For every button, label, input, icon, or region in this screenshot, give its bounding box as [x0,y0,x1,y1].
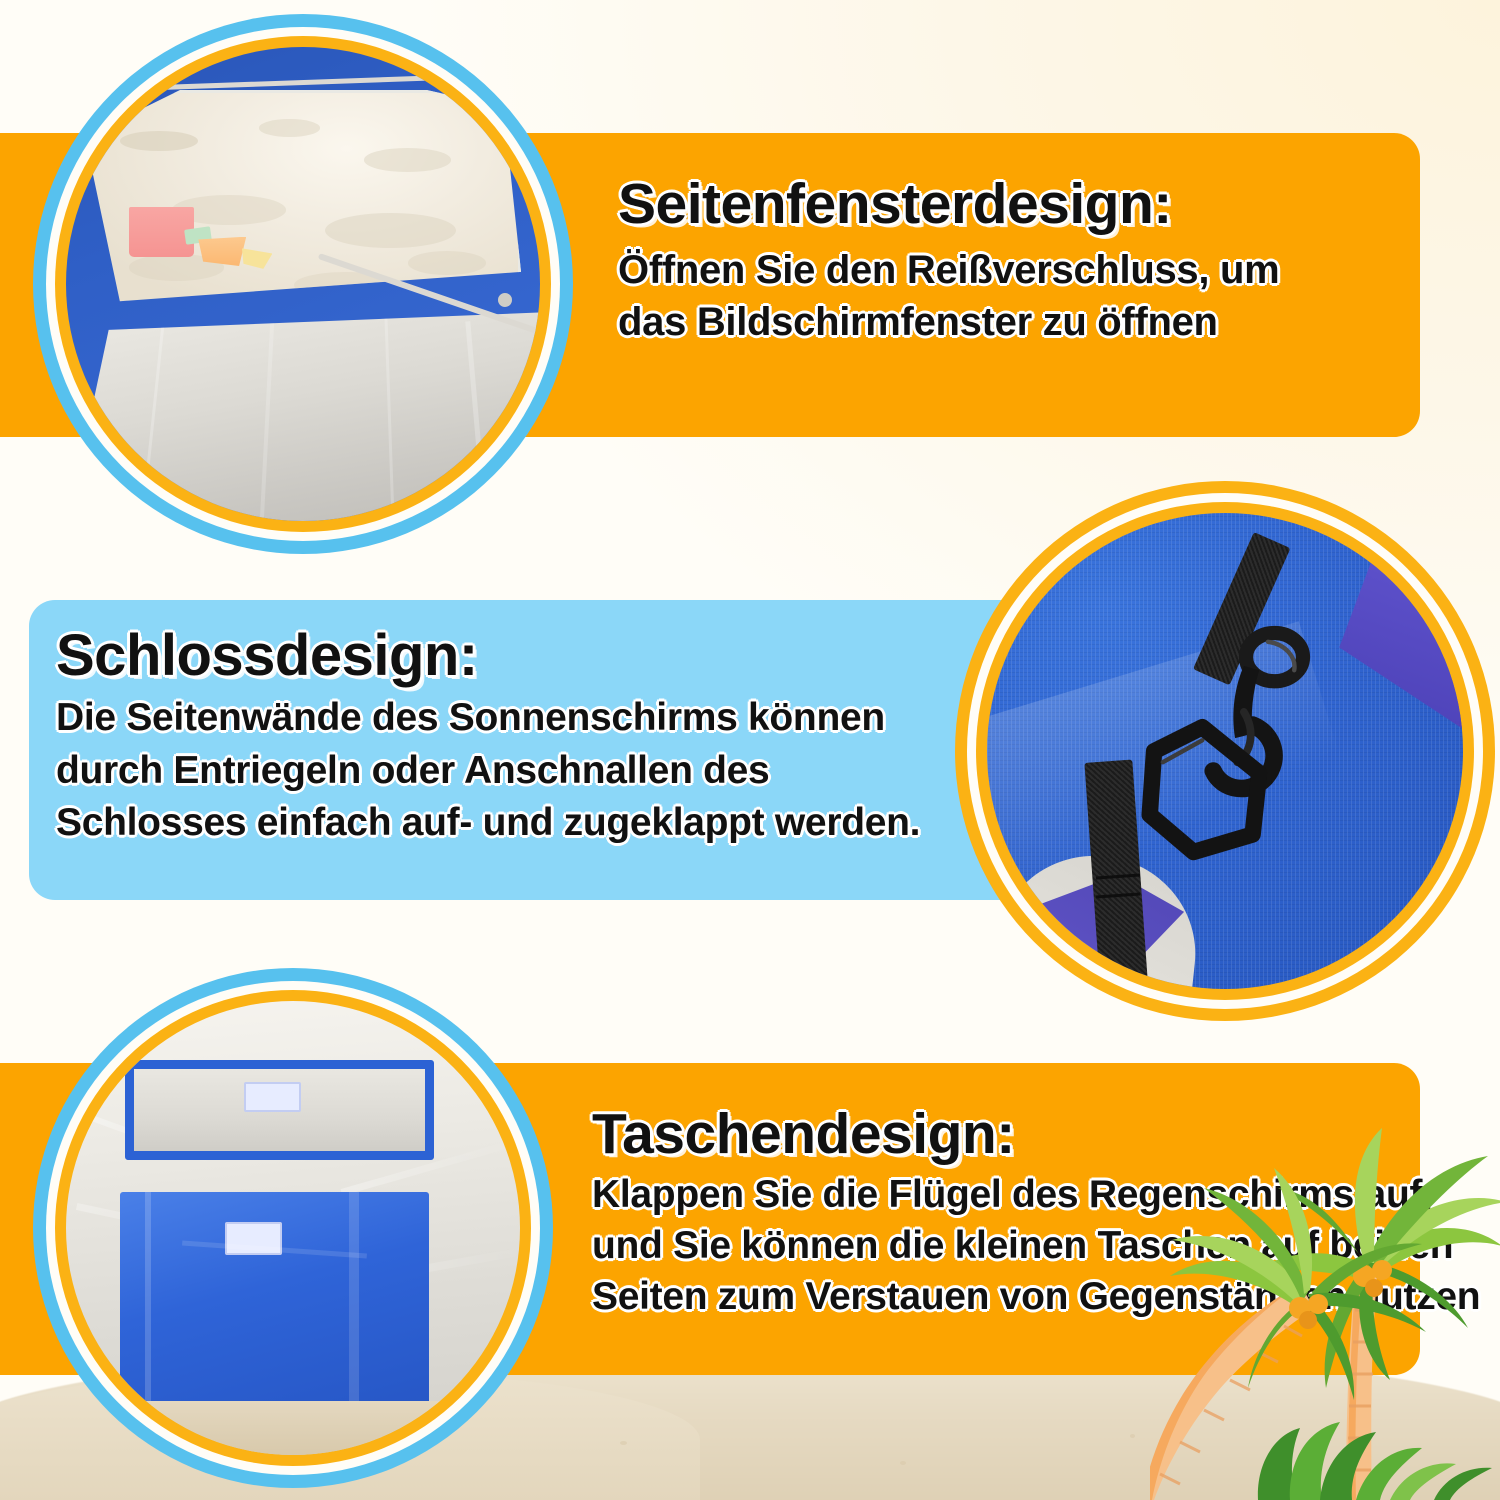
feature-body-lock: Die Seitenwände des Sonnenschirms können… [56,692,920,849]
feature-photo-pocket [33,968,553,1488]
palm-tree-icon [1150,1070,1500,1500]
photo-image-lock [987,513,1463,989]
feature-heading-side-window: Seitenfensterdesign: [618,174,1279,234]
feature-photo-side-window [33,14,573,554]
infographic-canvas: Seitenfensterdesign: Öffnen Sie den Reiß… [0,0,1500,1500]
feature-photo-lock [955,481,1495,1021]
feature-text-side-window: Seitenfensterdesign: Öffnen Sie den Reiß… [618,174,1279,348]
photo-image-side-window [66,47,540,521]
feature-heading-lock: Schlossdesign: [56,625,920,686]
photo-image-pocket [66,1001,520,1455]
feature-text-lock: Schlossdesign: Die Seitenwände des Sonne… [56,625,920,849]
feature-body-side-window: Öffnen Sie den Reißverschluss, um das Bi… [618,244,1279,348]
